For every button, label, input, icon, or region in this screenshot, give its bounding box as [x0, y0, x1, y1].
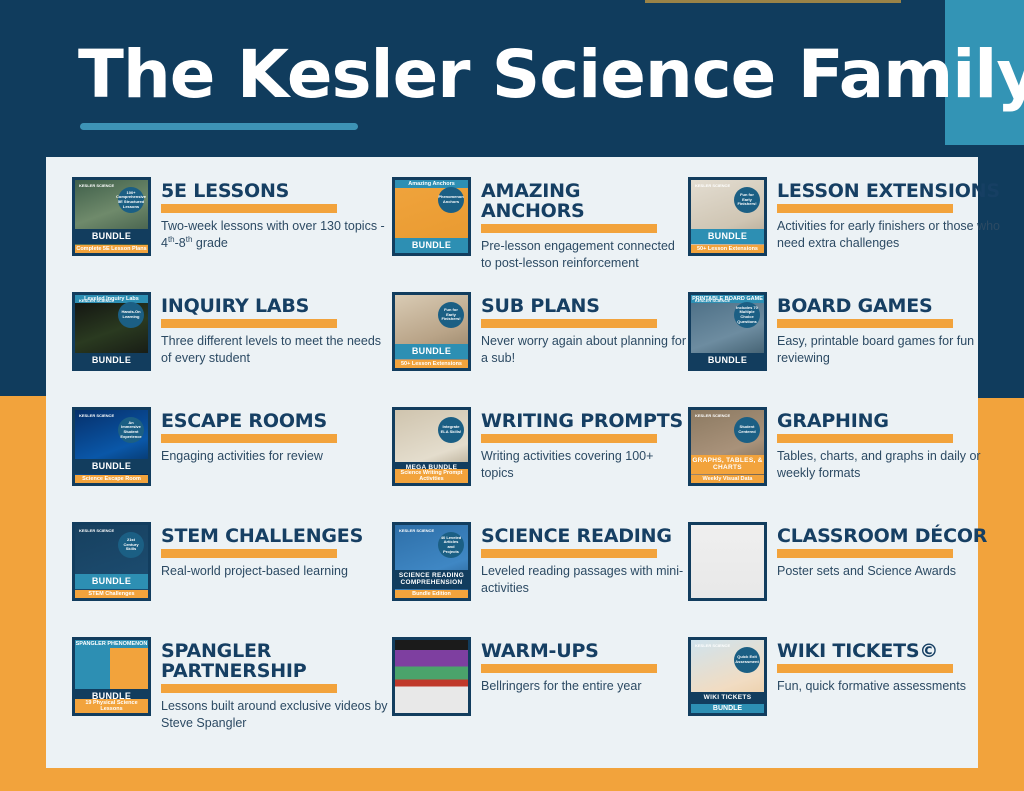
product-thumbnail[interactable] [392, 637, 471, 716]
product-title-rule [481, 319, 657, 328]
product-thumbnail[interactable]: Fun for Early Finishers!BUNDLE50+ Lesson… [392, 292, 471, 371]
product-title-rule [481, 434, 657, 443]
thumbnail-bundle-band: BUNDLE [395, 238, 468, 253]
thumbnail-badge: Fun for Early Finishers! [438, 302, 464, 328]
thumbnail-sub-label: Science Escape Room [75, 475, 148, 483]
title-underline [80, 123, 358, 130]
thumbnail-badge: Fun for Early Finishers! [734, 187, 760, 213]
thumbnail-badge: Hands-On Learning [118, 302, 144, 328]
product-title-rule [481, 549, 657, 558]
kesler-science-logo-icon: KESLER SCIENCE [79, 184, 114, 188]
product-item[interactable]: KESLER SCIENCE100+ Comprehensive 5E Stru… [72, 177, 392, 292]
product-text: BOARD GAMESEasy, printable board games f… [777, 292, 1004, 366]
thumbnail-bundle-band: BUNDLE [75, 459, 148, 474]
product-title-rule [161, 684, 337, 693]
thumbnail-badge: Integrate ELA Skills! [438, 417, 464, 443]
product-item[interactable]: SPANGLER PHENOMENONBUNDLE19 Physical Sci… [72, 637, 392, 752]
product-description: Tables, charts, and graphs in daily or w… [777, 448, 1004, 481]
header: The Kesler Science Family [0, 0, 1024, 157]
thumbnail-bundle-band: BUNDLE [75, 353, 148, 368]
product-title: GRAPHING [777, 411, 1004, 431]
product-title-rule [161, 319, 337, 328]
thumbnail-sub-label: Science Writing Prompt Activities [395, 469, 468, 483]
thumbnail-bundle-band: BUNDLE [691, 353, 764, 368]
product-title-rule [161, 204, 337, 213]
product-description: Never worry again about planning for a s… [481, 333, 688, 366]
product-title-rule [777, 664, 953, 673]
product-description: Easy, printable board games for fun revi… [777, 333, 1004, 366]
product-title: INQUIRY LABS [161, 296, 392, 316]
thumbnail-sub-label: 50+ Lesson Extensions [691, 245, 764, 253]
product-thumbnail[interactable]: SPANGLER PHENOMENONBUNDLE19 Physical Sci… [72, 637, 151, 716]
thumbnail-sub-label: Weekly Visual Data [691, 475, 764, 483]
kesler-science-logo-icon: KESLER SCIENCE [79, 299, 114, 303]
thumbnail-badge: 40 Leveled Articles and Projects [438, 532, 464, 558]
product-thumbnail[interactable]: KESLER SCIENCE21st Century SkillsBUNDLES… [72, 522, 151, 601]
product-title: WIKI TICKETS© [777, 641, 966, 661]
product-description: Lessons built around exclusive videos by… [161, 698, 392, 731]
product-thumbnail[interactable]: KESLER SCIENCEFun for Early Finishers!BU… [688, 177, 767, 256]
product-text: AMAZING ANCHORSPre-lesson engagement con… [481, 177, 688, 272]
thumbnail-badge: 21st Century Skills [118, 532, 144, 558]
kesler-science-logo-icon: KESLER SCIENCE [695, 644, 730, 648]
product-text: WRITING PROMPTSWriting activities coveri… [481, 407, 688, 481]
product-title: CLASSROOM DÉCOR [777, 526, 987, 546]
product-item[interactable]: KESLER SCIENCE40 Leveled Articles and Pr… [392, 522, 688, 637]
product-text: 5E LESSONSTwo-week lessons with over 130… [161, 177, 392, 252]
product-description: Writing activities covering 100+ topics [481, 448, 688, 481]
product-title-rule [777, 319, 953, 328]
product-title-rule [777, 434, 953, 443]
product-title: LESSON EXTENSIONS [777, 181, 1004, 201]
product-item[interactable]: KESLER SCIENCEAn Immersive Student Exper… [72, 407, 392, 522]
product-text: SPANGLER PARTNERSHIPLessons built around… [161, 637, 392, 732]
kesler-science-logo-icon: KESLER SCIENCE [399, 529, 434, 533]
product-item[interactable]: KESLER SCIENCEStudent CenteredGRAPHS, TA… [688, 407, 1004, 522]
product-item[interactable]: Fun for Early Finishers!BUNDLE50+ Lesson… [392, 292, 688, 407]
page-title: The Kesler Science Family [78, 36, 1024, 113]
product-description: Fun, quick formative assessments [777, 678, 966, 695]
kesler-science-logo-icon: KESLER SCIENCE [695, 414, 730, 418]
orange-band-bottom [0, 768, 1024, 791]
content-card: KESLER SCIENCE100+ Comprehensive 5E Stru… [46, 157, 978, 768]
product-title: ESCAPE ROOMS [161, 411, 337, 431]
product-text: SUB PLANSNever worry again about plannin… [481, 292, 688, 366]
product-title-rule [481, 664, 657, 673]
product-description: Leveled reading passages with mini-activ… [481, 563, 688, 596]
thumbnail-sub-label: STEM Challenges [75, 590, 148, 598]
thumbnail-bundle-band: BUNDLE [75, 574, 148, 589]
product-thumbnail[interactable]: KESLER SCIENCEPRINTABLE BOARD GAMEInclud… [688, 292, 767, 371]
product-thumbnail[interactable]: KESLER SCIENCE100+ Comprehensive 5E Stru… [72, 177, 151, 256]
product-item[interactable]: KESLER SCIENCEPRINTABLE BOARD GAMEInclud… [688, 292, 1004, 407]
product-text: INQUIRY LABSThree different levels to me… [161, 292, 392, 366]
thumbnail-sub-label: Complete 5E Lesson Plans [75, 245, 148, 253]
product-thumbnail[interactable]: KESLER SCIENCEQuick Exit AssessmentWIKI … [688, 637, 767, 716]
product-text: LESSON EXTENSIONSActivities for early fi… [777, 177, 1004, 251]
product-item[interactable]: WARM-UPSBellringers for the entire year [392, 637, 688, 752]
product-thumbnail[interactable]: Integrate ELA Skills!MEGA BUNDLEScience … [392, 407, 471, 486]
product-title: SUB PLANS [481, 296, 688, 316]
product-item[interactable]: KESLER SCIENCELeveled Inquiry LabsHands-… [72, 292, 392, 407]
product-title-rule [161, 434, 337, 443]
product-item[interactable]: Integrate ELA Skills!MEGA BUNDLEScience … [392, 407, 688, 522]
product-thumbnail[interactable]: Amazing AnchorsPhenomenon AnchorsBUNDLE [392, 177, 471, 256]
thumbnail-badge: Quick Exit Assessment [734, 647, 760, 673]
orange-band-left [0, 396, 46, 791]
product-description: Two-week lessons with over 130 topics - … [161, 218, 392, 251]
product-title-rule [481, 224, 657, 233]
product-title: AMAZING ANCHORS [481, 181, 688, 221]
product-description: Three different levels to meet the needs… [161, 333, 392, 366]
product-description: Bellringers for the entire year [481, 678, 657, 695]
thumbnail-bundle-band: SCIENCE READING COMPREHENSION [395, 570, 468, 589]
product-description: Real-world project-based learning [161, 563, 363, 580]
thumbnail-bundle-band: WIKI TICKETS [691, 692, 764, 704]
thumbnail-artwork [395, 640, 468, 713]
thumbnail-sub-label: Bundle Edition [395, 590, 468, 598]
thumbnail-sub-label: 19 Physical Science Lessons [75, 699, 148, 713]
product-item[interactable]: KESLER SCIENCE21st Century SkillsBUNDLES… [72, 522, 392, 637]
thumbnail-badge: Student Centered [734, 417, 760, 443]
product-title-rule [777, 549, 953, 558]
product-title: SCIENCE READING [481, 526, 688, 546]
product-thumbnail[interactable] [688, 522, 767, 601]
product-title: BOARD GAMES [777, 296, 1004, 316]
thumbnail-badge: 100+ Comprehensive 5E Structured Lessons [118, 187, 144, 213]
product-description: Poster sets and Science Awards [777, 563, 987, 580]
product-thumbnail[interactable]: KESLER SCIENCE40 Leveled Articles and Pr… [392, 522, 471, 601]
product-text: CLASSROOM DÉCORPoster sets and Science A… [777, 522, 987, 580]
product-description: Activities for early finishers or those … [777, 218, 1004, 251]
product-item[interactable]: KESLER SCIENCEFun for Early Finishers!BU… [688, 177, 1004, 292]
thumbnail-sub-label: BUNDLE [691, 704, 764, 713]
thumbnail-bundle-band: GRAPHS, TABLES, & CHARTS [691, 455, 764, 474]
product-text: WARM-UPSBellringers for the entire year [481, 637, 657, 695]
product-thumbnail[interactable]: KESLER SCIENCEStudent CenteredGRAPHS, TA… [688, 407, 767, 486]
thumbnail-artwork [691, 525, 764, 598]
product-item[interactable]: KESLER SCIENCEQuick Exit AssessmentWIKI … [688, 637, 1004, 752]
product-title: WRITING PROMPTS [481, 411, 688, 431]
thumbnail-bundle-band: BUNDLE [395, 344, 468, 359]
kesler-science-logo-icon: KESLER SCIENCE [695, 184, 730, 188]
product-title-rule [161, 549, 337, 558]
kesler-science-logo-icon: KESLER SCIENCE [79, 414, 114, 418]
thumbnail-sub-label: 50+ Lesson Extensions [395, 360, 468, 368]
thumbnail-badge: Includes 70 Multiple Choice Questions [734, 302, 760, 328]
product-description: Engaging activities for review [161, 448, 337, 465]
thumbnail-top-label: SPANGLER PHENOMENON [75, 640, 148, 648]
product-text: GRAPHINGTables, charts, and graphs in da… [777, 407, 1004, 481]
product-title: 5E LESSONS [161, 181, 392, 201]
product-item[interactable]: Amazing AnchorsPhenomenon AnchorsBUNDLEA… [392, 177, 688, 292]
kesler-science-logo-icon: KESLER SCIENCE [79, 529, 114, 533]
product-title-rule [777, 204, 953, 213]
product-grid: KESLER SCIENCE100+ Comprehensive 5E Stru… [46, 157, 978, 768]
product-item[interactable]: CLASSROOM DÉCORPoster sets and Science A… [688, 522, 1004, 637]
thumbnail-bundle-band: BUNDLE [691, 229, 764, 244]
product-title: SPANGLER PARTNERSHIP [161, 641, 392, 681]
product-thumbnail[interactable]: KESLER SCIENCELeveled Inquiry LabsHands-… [72, 292, 151, 371]
thumbnail-top-label: Amazing Anchors [395, 180, 468, 188]
product-text: STEM CHALLENGESReal-world project-based … [161, 522, 363, 580]
product-title: WARM-UPS [481, 641, 657, 661]
product-text: WIKI TICKETS©Fun, quick formative assess… [777, 637, 966, 695]
product-description: Pre-lesson engagement connected to post-… [481, 238, 688, 271]
thumbnail-badge: Phenomenon Anchors [438, 187, 464, 213]
kesler-science-logo-icon: KESLER SCIENCE [695, 299, 730, 303]
product-thumbnail[interactable]: KESLER SCIENCEAn Immersive Student Exper… [72, 407, 151, 486]
product-title: STEM CHALLENGES [161, 526, 363, 546]
product-text: ESCAPE ROOMSEngaging activities for revi… [161, 407, 337, 465]
thumbnail-bundle-band: BUNDLE [75, 229, 148, 244]
thumbnail-badge: An Immersive Student Experience [118, 417, 144, 443]
product-text: SCIENCE READINGLeveled reading passages … [481, 522, 688, 596]
